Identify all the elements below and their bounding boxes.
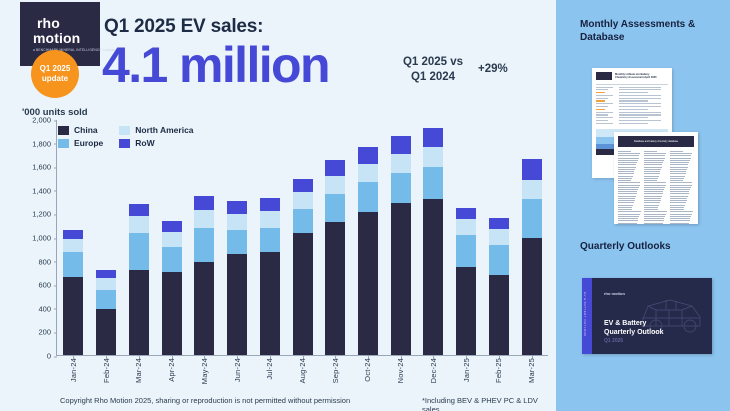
bar-segment-row — [522, 159, 542, 181]
bar-segment-row — [358, 147, 378, 164]
bar-segment-north-america — [325, 176, 345, 194]
bar-segment-china — [260, 252, 280, 355]
stacked-bar[interactable] — [194, 196, 214, 355]
legend-label: China — [74, 125, 98, 135]
bar-segment-china — [63, 277, 83, 355]
document-header: Monthly Lithium-ion Battery Chemistry As… — [592, 68, 672, 82]
y-axis-tick: 1,400 — [32, 186, 57, 195]
bar-column[interactable]: Sep-24 — [319, 120, 352, 355]
bar-segment-europe — [194, 228, 214, 262]
stacked-bar[interactable] — [423, 128, 443, 355]
database-column-3 — [670, 151, 694, 224]
bar-segment-europe — [423, 167, 443, 199]
bar-segment-north-america — [358, 164, 378, 182]
x-axis-tick-label: Feb-24 — [102, 358, 111, 383]
bar-segment-row — [162, 221, 182, 233]
monthly-assessments-title: Monthly Assessments & Database — [580, 18, 720, 44]
x-axis-tick-label: May-24 — [200, 358, 209, 384]
bar-segment-row — [391, 136, 411, 154]
bar-segment-europe — [260, 228, 280, 253]
bar-segment-china — [325, 222, 345, 355]
quarterly-outlook-card[interactable]: EV & BATTERY OUTLOOK rho motion EV & Bat… — [582, 278, 712, 354]
legend-item[interactable]: Europe — [58, 138, 103, 148]
bar-segment-row — [489, 218, 509, 229]
x-axis-tick-label: Jul-24 — [265, 358, 274, 380]
bar-series-container: Jan-24Feb-24Mar-24Apr-24May-24Jun-24Jul-… — [57, 120, 548, 355]
x-axis-tick-label: Mar-24 — [134, 358, 143, 383]
bar-segment-china — [358, 212, 378, 355]
outlook-strip-text: EV & BATTERY OUTLOOK — [583, 292, 587, 337]
outlook-title-line-1: EV & Battery — [604, 320, 664, 329]
comparison-label: Q1 2025 vs Q1 2024 — [388, 55, 478, 85]
x-axis-tick-label: Jan-24 — [69, 358, 78, 382]
x-axis-tick-label: Sep-24 — [331, 358, 340, 383]
stacked-bar[interactable] — [391, 136, 411, 355]
bar-segment-europe — [522, 199, 542, 238]
bar-segment-row — [194, 196, 214, 210]
y-axis-tick: 0 — [47, 352, 57, 361]
database-column-2 — [644, 151, 668, 224]
bar-segment-north-america — [293, 192, 313, 209]
bar-segment-row — [96, 270, 116, 278]
bar-segment-europe — [63, 252, 83, 277]
x-axis-tick-label: Mar-25 — [527, 358, 536, 383]
bar-segment-row — [325, 160, 345, 177]
bar-segment-row — [227, 201, 247, 214]
bar-segment-north-america — [489, 229, 509, 245]
footnote-text: *Including BEV & PHEV PC & LDV sales — [422, 396, 556, 411]
bar-segment-china — [129, 270, 149, 355]
bar-column[interactable]: Mar-24 — [122, 120, 155, 355]
ev-sales-stacked-bar-chart: 02004006008001,0001,2001,4001,6001,8002,… — [20, 120, 548, 390]
bar-column[interactable]: Aug-24 — [286, 120, 319, 355]
bar-segment-china — [391, 203, 411, 355]
y-axis-tick: 1,600 — [32, 163, 57, 172]
bar-segment-europe — [162, 247, 182, 272]
y-axis-tick: 1,800 — [32, 139, 57, 148]
x-axis-tick-label: Jun-24 — [233, 358, 242, 382]
badge-line-1: Q1 2025 — [40, 64, 71, 74]
bar-column[interactable]: May-24 — [188, 120, 221, 355]
document-body — [592, 87, 672, 126]
bar-segment-china — [162, 272, 182, 355]
x-axis-tick-label: Aug-24 — [298, 358, 307, 383]
bar-segment-china — [456, 267, 476, 355]
legend-label: North America — [135, 125, 193, 135]
bar-column[interactable]: Feb-24 — [90, 120, 123, 355]
y-axis-tick: 2,000 — [32, 116, 57, 125]
bar-segment-north-america — [96, 278, 116, 290]
outlook-card-logo: rho motion — [604, 292, 625, 297]
bar-column[interactable]: Jan-25 — [450, 120, 483, 355]
legend-item[interactable]: North America — [119, 125, 193, 135]
bar-segment-row — [129, 204, 149, 216]
bar-segment-europe — [129, 233, 149, 270]
stacked-bar[interactable] — [456, 208, 476, 355]
x-axis-tick-label: Jan-25 — [462, 358, 471, 382]
legend-label: Europe — [74, 138, 103, 148]
bar-column[interactable]: Apr-24 — [155, 120, 188, 355]
bar-segment-china — [522, 238, 542, 355]
bar-segment-europe — [227, 230, 247, 254]
outlook-card-title: EV & Battery Quarterly Outlook — [604, 320, 664, 337]
bar-segment-europe — [96, 290, 116, 309]
bar-segment-row — [423, 128, 443, 147]
bar-segment-europe — [489, 245, 509, 275]
bar-segment-north-america — [456, 219, 476, 235]
bar-segment-china — [194, 262, 214, 355]
bar-column[interactable]: Jul-24 — [253, 120, 286, 355]
stacked-bar[interactable] — [325, 160, 345, 355]
growth-delta: +29% — [478, 63, 508, 75]
stacked-bar[interactable] — [522, 159, 542, 355]
document-logo-icon — [596, 72, 612, 80]
bar-segment-china — [227, 254, 247, 355]
bar-segment-row — [456, 208, 476, 220]
stacked-bar[interactable] — [358, 147, 378, 355]
comparison-line-1: Q1 2025 vs — [388, 55, 478, 70]
y-axis-tick: 1,200 — [32, 210, 57, 219]
main-content-area: rho motion a BENCHMARK MINERAL INTELLIGE… — [0, 0, 556, 411]
bar-column[interactable]: Nov-24 — [384, 120, 417, 355]
headline-big-number: 4.1 million — [102, 38, 329, 92]
outlook-card-side-strip: EV & BATTERY OUTLOOK — [582, 278, 592, 354]
document-heading-line-2: Chemistry Assessment April 2025 — [615, 76, 657, 79]
logo-text-motion: motion — [33, 31, 80, 45]
right-sidebar-panel: Monthly Assessments & Database Monthly L… — [556, 0, 730, 411]
database-header-bar: Database and battery chemistry database — [618, 136, 694, 147]
document-divider — [596, 84, 668, 85]
x-axis-tick-label: Nov-24 — [396, 358, 405, 383]
stacked-bar[interactable] — [293, 179, 313, 355]
legend-swatch — [58, 139, 69, 148]
outlook-title-line-2: Quarterly Outlook — [604, 329, 664, 338]
bar-segment-north-america — [129, 216, 149, 233]
bar-column[interactable]: Feb-25 — [483, 120, 516, 355]
bar-column[interactable]: Jan-24 — [57, 120, 90, 355]
bar-segment-row — [63, 230, 83, 239]
stacked-bar[interactable] — [63, 230, 83, 355]
bar-segment-china — [293, 233, 313, 355]
legend-item[interactable]: China — [58, 125, 103, 135]
bar-segment-north-america — [63, 239, 83, 251]
document-left-column — [596, 87, 616, 126]
bar-segment-china — [423, 199, 443, 355]
bar-segment-north-america — [227, 214, 247, 230]
bar-segment-china — [96, 309, 116, 355]
bar-segment-europe — [293, 209, 313, 234]
y-axis-tick: 1,000 — [32, 234, 57, 243]
legend-swatch — [119, 139, 130, 148]
bar-segment-north-america — [423, 147, 443, 167]
bar-segment-north-america — [391, 154, 411, 173]
stacked-bar[interactable] — [489, 218, 509, 355]
outlook-card-date: Q1 2025 — [604, 338, 623, 344]
q1-update-badge: Q1 2025 update — [31, 50, 79, 98]
logo-text-rho: rho — [37, 16, 60, 30]
y-axis-tick: 600 — [38, 281, 57, 290]
badge-line-2: update — [42, 74, 68, 84]
legend-label: RoW — [135, 138, 154, 148]
chart-plot-area: 02004006008001,0001,2001,4001,6001,8002,… — [56, 120, 548, 356]
y-axis-tick: 800 — [38, 257, 57, 266]
legend-swatch — [58, 126, 69, 135]
x-axis-tick-label: Oct-24 — [363, 358, 372, 382]
x-axis-tick-label: Apr-24 — [167, 358, 176, 382]
stacked-bar[interactable] — [96, 270, 116, 355]
document-right-column — [619, 87, 668, 126]
copyright-text: Copyright Rho Motion 2025, sharing or re… — [60, 396, 350, 405]
bar-segment-row — [293, 179, 313, 193]
bar-column[interactable]: Mar-25 — [515, 120, 548, 355]
bar-column[interactable]: Jun-24 — [221, 120, 254, 355]
y-axis-tick: 400 — [38, 304, 57, 313]
stacked-bar[interactable] — [260, 198, 280, 355]
document-heading: Monthly Lithium-ion Battery Chemistry As… — [615, 73, 657, 80]
page-title: Q1 2025 EV sales: — [104, 16, 263, 38]
stacked-bar[interactable] — [227, 201, 247, 355]
bar-column[interactable]: Dec-24 — [417, 120, 450, 355]
database-column-1 — [618, 151, 642, 224]
bar-segment-europe — [391, 173, 411, 203]
database-header-text: Database and battery chemistry database — [634, 140, 678, 143]
bar-segment-north-america — [522, 180, 542, 199]
stacked-bar[interactable] — [162, 221, 182, 356]
x-axis-tick-label: Dec-24 — [429, 358, 438, 383]
legend-swatch — [119, 126, 130, 135]
database-document-thumbnail[interactable]: Database and battery chemistry database — [614, 132, 698, 224]
bar-segment-north-america — [194, 210, 214, 228]
bar-segment-row — [260, 198, 280, 211]
comparison-line-2: Q1 2024 — [388, 70, 478, 85]
bar-segment-europe — [358, 182, 378, 212]
quarterly-outlooks-title: Quarterly Outlooks — [580, 240, 720, 253]
bar-segment-europe — [325, 194, 345, 222]
bar-segment-north-america — [260, 211, 280, 228]
legend-item[interactable]: RoW — [119, 138, 193, 148]
bar-segment-north-america — [162, 232, 182, 247]
bar-column[interactable]: Oct-24 — [352, 120, 385, 355]
infographic-page: rho motion a BENCHMARK MINERAL INTELLIGE… — [0, 0, 730, 411]
bar-segment-china — [489, 275, 509, 355]
x-axis-tick-label: Feb-25 — [494, 358, 503, 383]
y-axis-tick: 200 — [38, 328, 57, 337]
chart-legend: ChinaNorth AmericaEuropeRoW — [58, 125, 194, 148]
bar-segment-europe — [456, 235, 476, 267]
database-table — [614, 151, 698, 224]
stacked-bar[interactable] — [129, 204, 149, 355]
